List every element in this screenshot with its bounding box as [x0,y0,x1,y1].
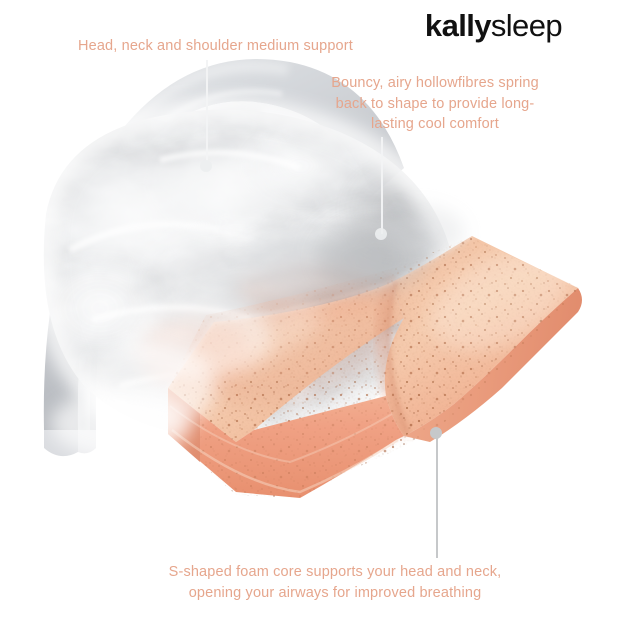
brand-logo-light: sleep [491,8,562,43]
leader-dot-s-shaped-foam-core [430,427,442,439]
leader-line-s-shaped-foam-core [436,433,438,558]
infographic-canvas: kallysleep Head, neck and shoulder mediu… [0,0,620,620]
brand-logo-bold: kally [425,8,491,43]
annotation-s-shaped-foam-core: S-shaped foam core supports your head an… [135,562,535,603]
annotation-hollowfibre-spring-back: Bouncy, airy hollowfibres spring back to… [322,73,548,135]
annotation-head-neck-shoulder-support: Head, neck and shoulder medium support [78,36,353,57]
brand-logo[interactable]: kallysleep [425,10,562,41]
leader-line-head-neck-shoulder-support [206,60,208,166]
leader-line-hollowfibre-spring-back [381,137,383,234]
leader-dot-hollowfibre-spring-back [375,228,387,240]
leader-dot-head-neck-shoulder-support [200,160,212,172]
